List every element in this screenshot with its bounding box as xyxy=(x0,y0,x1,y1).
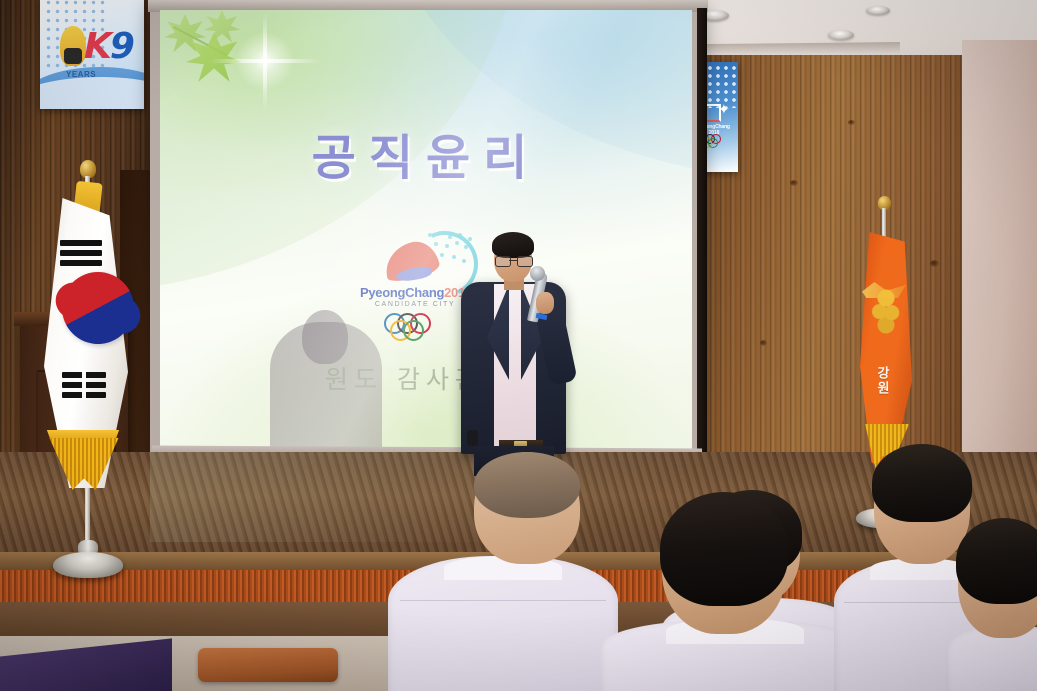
lens-flare-icon xyxy=(220,16,310,106)
logo-dot-spray-icon xyxy=(426,231,474,277)
pyeongchang-logo: PyeongChang2018 CANDIDATE CITY xyxy=(360,235,470,340)
audience-member-4-hair xyxy=(872,444,972,522)
slide-title: 공직윤리 xyxy=(160,118,692,188)
flag-stand xyxy=(53,552,123,578)
slide-subtitle: 원도 감사관 영 xyxy=(160,360,692,396)
slide-silhouette-head xyxy=(302,310,348,364)
banner-k9-nine: 9 xyxy=(110,26,133,67)
audience-member-3-hair xyxy=(660,492,788,606)
trigram-geon xyxy=(60,240,102,270)
glasses-icon xyxy=(495,256,531,265)
downlight-icon xyxy=(866,6,890,15)
logo-wordmark: PyeongChang2018 xyxy=(360,285,470,300)
logo-tagline: CANDIDATE CITY xyxy=(360,301,470,308)
audience-member-1-hair xyxy=(474,452,580,518)
screen-right-edge xyxy=(697,8,707,470)
downlight-icon xyxy=(828,30,854,40)
speaker-hair xyxy=(492,232,534,258)
city-flag-label: 강원 xyxy=(872,366,891,396)
wood-knot xyxy=(848,120,855,125)
banner-k9-caption: YEARS xyxy=(66,70,96,79)
audience-member-1-seam xyxy=(400,600,606,601)
trigram-gon xyxy=(62,372,106,402)
projection-screen: 공직윤리 PyeongChang2018 CANDIDATE CITY xyxy=(160,10,692,450)
banner-k9: K9 YEARS xyxy=(40,0,144,109)
audience-member-5-hair xyxy=(956,518,1037,604)
mascot-icon xyxy=(60,26,86,66)
star-icon: ✦ xyxy=(718,102,730,116)
presentation-clicker-icon xyxy=(467,430,478,446)
wood-knot xyxy=(790,180,798,186)
wood-knot xyxy=(760,340,767,346)
logo-wordmark-text: PyeongChang xyxy=(360,285,444,300)
wood-knot xyxy=(930,260,939,267)
banner-wave-highlight xyxy=(40,77,144,109)
chair xyxy=(198,648,338,682)
city-flag-emblem-icon xyxy=(868,288,904,344)
banner-k9-label: K9 xyxy=(84,26,133,67)
lecture-hall-photo: K9 YEARS ✦ PyeongChang 2018 공직윤리 xyxy=(0,0,1037,691)
olympic-rings-icon xyxy=(384,313,448,335)
speaker-hand xyxy=(536,292,554,314)
